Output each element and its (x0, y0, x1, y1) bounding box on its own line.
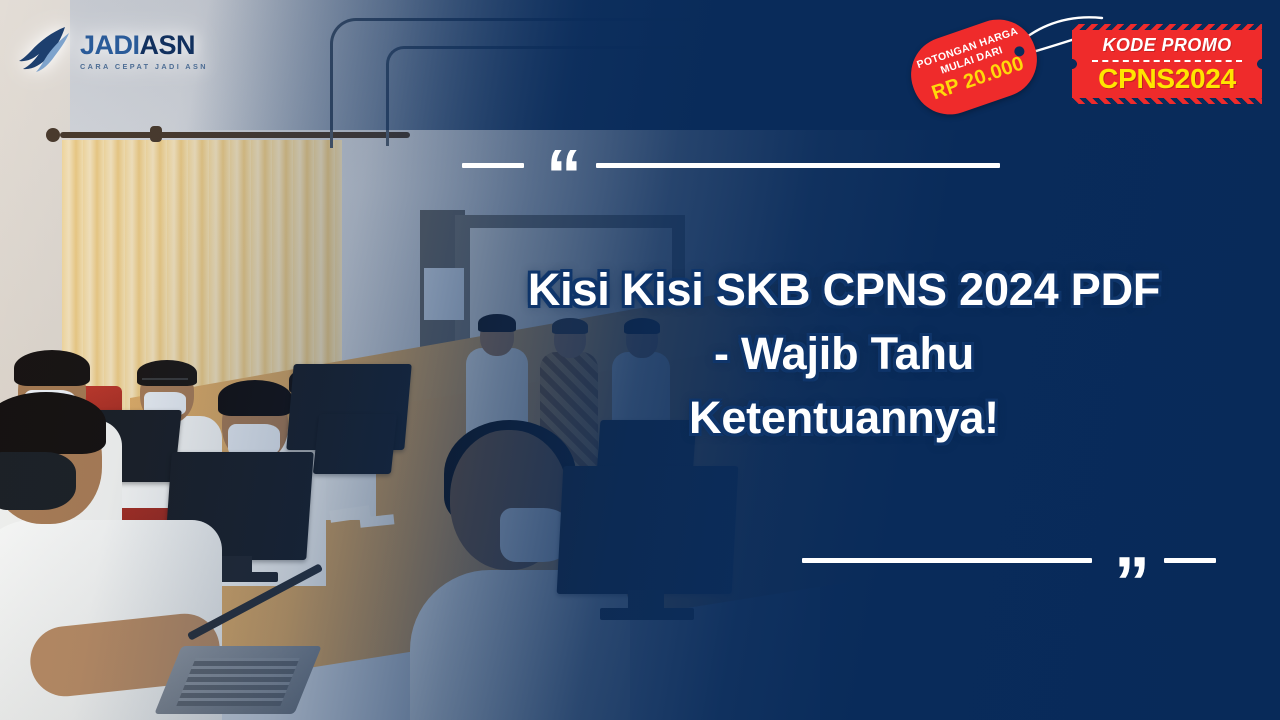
bird-wing-icon (18, 24, 74, 78)
headline-line-1: Kisi Kisi SKB CPNS 2024 PDF (460, 258, 1228, 322)
rule-short-top (462, 163, 524, 168)
headline-line-2: - Wajib Tahu (460, 322, 1228, 386)
logo-word-asn: ASN (140, 30, 196, 60)
ticket-zigzag-bottom-icon (1072, 98, 1262, 104)
logo-word-jadi: JADI (80, 30, 140, 60)
logo-wordmark: JADIASN CARA CEPAT JADI ASN (80, 32, 208, 70)
logo-tagline: CARA CEPAT JADI ASN (80, 63, 208, 70)
headline-line-3: Ketentuannya! (460, 386, 1228, 450)
rule-long-bottom (802, 558, 1092, 563)
rule-long-top (596, 163, 1000, 168)
rule-short-bottom (1164, 558, 1216, 563)
brand-logo[interactable]: JADIASN CARA CEPAT JADI ASN (18, 24, 208, 78)
decoration-bottom: ” (802, 558, 1220, 563)
ticket-title: KODE PROMO (1102, 35, 1231, 56)
decoration-top: “ (462, 163, 1022, 168)
page-title: Kisi Kisi SKB CPNS 2024 PDF - Wajib Tahu… (460, 258, 1228, 450)
promo-ticket[interactable]: KODE PROMO CPNS2024 (1072, 24, 1262, 104)
ticket-divider (1092, 60, 1242, 62)
ticket-code: CPNS2024 (1098, 65, 1236, 93)
promo-badge-group[interactable]: POTONGAN HARGA MULAI DARI RP 20.000 KODE… (906, 10, 1262, 118)
thumbnail-canvas: JADIASN CARA CEPAT JADI ASN POTONGAN HAR… (0, 0, 1280, 720)
ticket-zigzag-top-icon (1072, 24, 1262, 30)
